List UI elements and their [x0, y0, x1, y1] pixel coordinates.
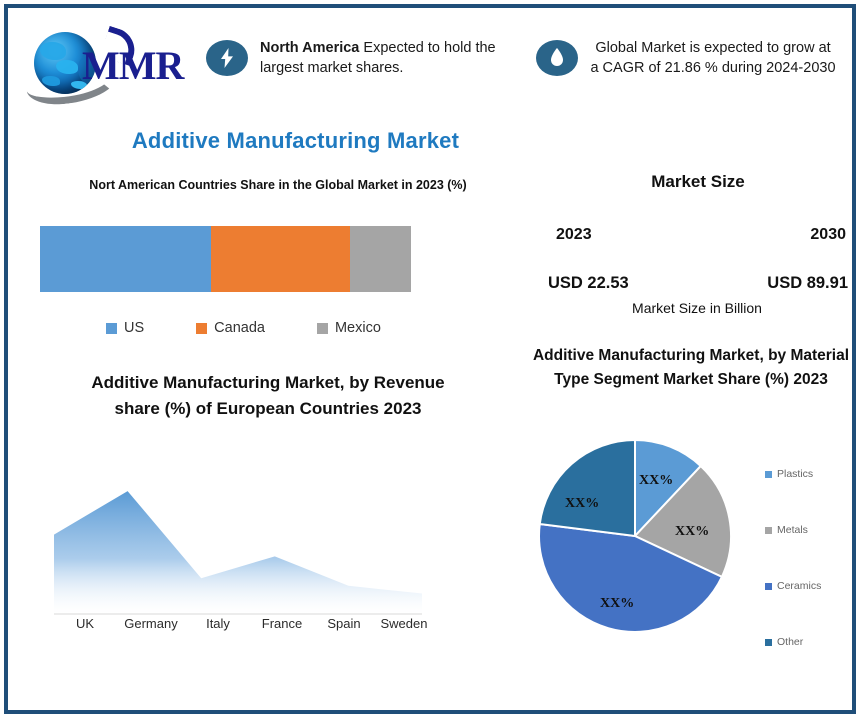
legend-label-us: US — [124, 320, 144, 336]
pie-label-other: XX% — [565, 496, 599, 512]
pie-legend-item-ceramics: Ceramics — [765, 558, 865, 614]
legend-item-canada: Canada — [196, 320, 265, 336]
pie-legend-label-other: Other — [777, 636, 803, 648]
legend-swatch-canada — [196, 323, 207, 334]
axis-label-france: France — [250, 616, 314, 631]
pie-legend-label-plastics: Plastics — [777, 468, 813, 480]
legend-swatch-mexico — [317, 323, 328, 334]
market-size-values: USD 22.53 USD 89.91 — [548, 274, 848, 293]
legend-label-canada: Canada — [214, 320, 265, 336]
header-fact-cagr-text: Global Market is expected to grow at a C… — [590, 38, 836, 78]
market-size-year-2023: 2023 — [556, 226, 592, 244]
area-chart — [34, 478, 424, 618]
market-size-unit-note: Market Size in Billion — [568, 300, 826, 316]
legend-item-mexico: Mexico — [317, 320, 381, 336]
bar-segment-canada — [211, 226, 350, 292]
pie-legend-swatch-other — [765, 639, 772, 646]
stacked-bar-chart — [40, 226, 411, 292]
header-fact-north-america-text: North America Expected to hold the large… — [260, 38, 536, 78]
legend-swatch-us — [106, 323, 117, 334]
pie-label-plastics: XX% — [639, 473, 673, 489]
pie-chart: XX% XX% XX% XX% — [535, 436, 735, 636]
area-chart-x-axis: UK Germany Italy France Spain Sweden — [54, 616, 434, 631]
brand-logo: MMR — [16, 16, 206, 112]
axis-label-spain: Spain — [314, 616, 374, 631]
pie-legend-item-metals: Metals — [765, 502, 865, 558]
pie-label-ceramics: XX% — [600, 596, 634, 612]
legend-label-mexico: Mexico — [335, 320, 381, 336]
bar-segment-us — [40, 226, 211, 292]
bar-chart-title: Nort American Countries Share in the Glo… — [68, 176, 488, 194]
pie-legend-swatch-ceramics — [765, 583, 772, 590]
axis-label-italy: Italy — [186, 616, 250, 631]
market-size-value-2023: USD 22.53 — [548, 274, 629, 293]
pie-legend-label-ceramics: Ceramics — [777, 580, 821, 592]
axis-label-uk: UK — [54, 616, 116, 631]
axis-label-germany: Germany — [116, 616, 186, 631]
legend-item-us: US — [106, 320, 144, 336]
header: MMR North America Expected to hold the l… — [16, 16, 852, 112]
pie-legend-item-other: Other — [765, 614, 865, 670]
pie-slice-other — [540, 440, 635, 536]
page-title: Additive Manufacturing Market — [8, 128, 583, 154]
pie-chart-title: Additive Manufacturing Market, by Materi… — [526, 344, 856, 392]
pie-legend-label-metals: Metals — [777, 524, 808, 536]
header-fact-bold-prefix: North America — [260, 40, 359, 56]
bar-segment-mexico — [350, 226, 411, 292]
pie-label-metals: XX% — [675, 524, 709, 540]
area-chart-title: Additive Manufacturing Market, by Revenu… — [68, 370, 468, 421]
infographic-frame: MMR North America Expected to hold the l… — [4, 4, 856, 714]
pie-legend-swatch-metals — [765, 527, 772, 534]
header-fact-north-america: North America Expected to hold the large… — [206, 16, 536, 78]
flame-icon — [536, 40, 578, 76]
logo-text: MMR — [82, 42, 183, 89]
market-size-year-2030: 2030 — [810, 226, 846, 244]
market-size-title: Market Size — [583, 172, 813, 192]
market-size-years: 2023 2030 — [556, 226, 846, 244]
pie-legend-swatch-plastics — [765, 471, 772, 478]
header-fact-cagr: Global Market is expected to grow at a C… — [536, 16, 836, 78]
pie-chart-legend: Plastics Metals Ceramics Other — [765, 446, 865, 670]
axis-label-sweden: Sweden — [374, 616, 434, 631]
bolt-icon — [206, 40, 248, 76]
pie-legend-item-plastics: Plastics — [765, 446, 865, 502]
market-size-value-2030: USD 89.91 — [767, 274, 848, 293]
bar-chart-legend: US Canada Mexico — [40, 320, 430, 336]
